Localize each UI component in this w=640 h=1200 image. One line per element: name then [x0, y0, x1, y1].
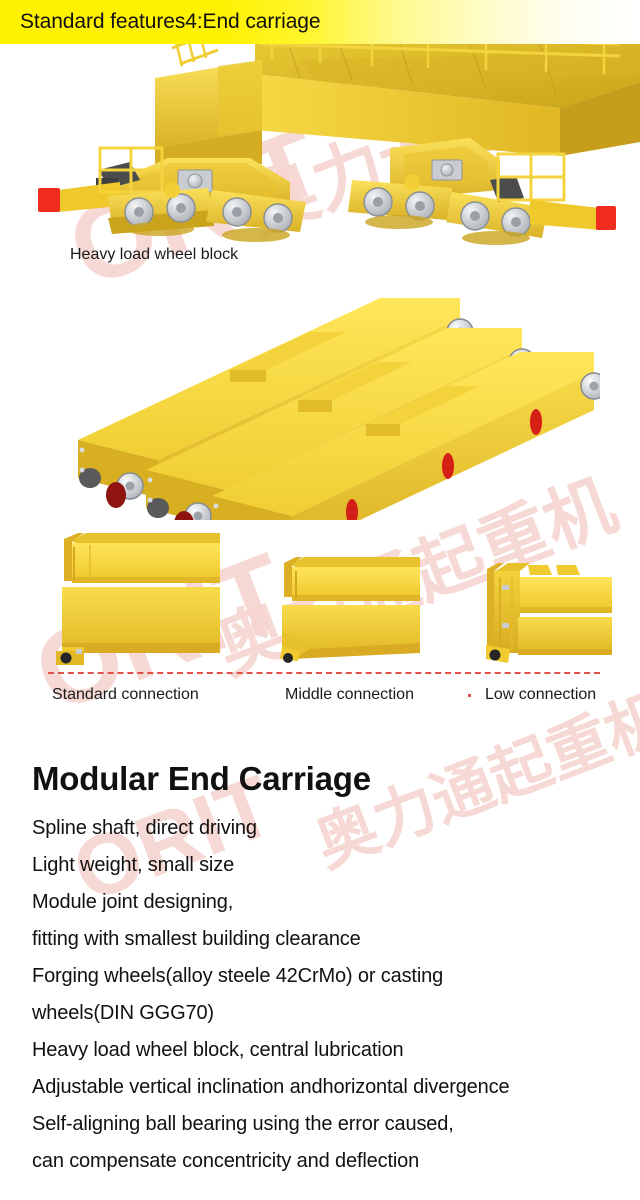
feature-line: Light weight, small size [32, 847, 632, 884]
end-carriage-body-left [96, 60, 290, 206]
section-title: Modular End Carriage [32, 758, 632, 800]
connection-baseline-divider [48, 672, 600, 674]
feature-line: Spline shaft, direct driving [32, 810, 632, 847]
description-section: Modular End Carriage Spline shaft, direc… [32, 758, 632, 1180]
main-girder [255, 44, 640, 156]
feature-line: Self-aligning ball bearing using the err… [32, 1106, 632, 1143]
divider-dot [468, 694, 471, 697]
feature-line: fitting with smallest building clearance [32, 921, 632, 958]
low-connection-illustration [486, 563, 612, 663]
feature-line: wheels(DIN GGG70) [32, 995, 632, 1032]
feature-line: Forging wheels(alloy steele 42CrMo) or c… [32, 958, 632, 995]
page-title: Standard features4:End carriage [20, 9, 320, 35]
caption-heavy-load-wheel-block: Heavy load wheel block [70, 245, 238, 265]
feature-line: Heavy load wheel block, central lubricat… [32, 1032, 632, 1069]
connection-types-figure [0, 525, 640, 680]
end-carriage-beams-figure [60, 290, 600, 520]
buffer-arm-left [38, 182, 120, 212]
caption-low-connection: Low connection [485, 685, 596, 705]
feature-line: Adjustable vertical inclination andhoriz… [32, 1069, 632, 1106]
standard-connection-illustration [56, 533, 220, 665]
feature-line: can compensate concentricity and deflect… [32, 1143, 632, 1180]
crane-end-carriage-figure [0, 30, 640, 245]
middle-connection-illustration [280, 557, 420, 663]
wheel-block-left-2 [206, 190, 306, 242]
feature-line: Module joint designing, [32, 884, 632, 921]
caption-standard-connection: Standard connection [52, 685, 199, 705]
caption-middle-connection: Middle connection [285, 685, 414, 705]
feature-list: Spline shaft, direct driving Light weigh… [32, 810, 632, 1180]
header-banner: Standard features4:End carriage [0, 0, 640, 44]
